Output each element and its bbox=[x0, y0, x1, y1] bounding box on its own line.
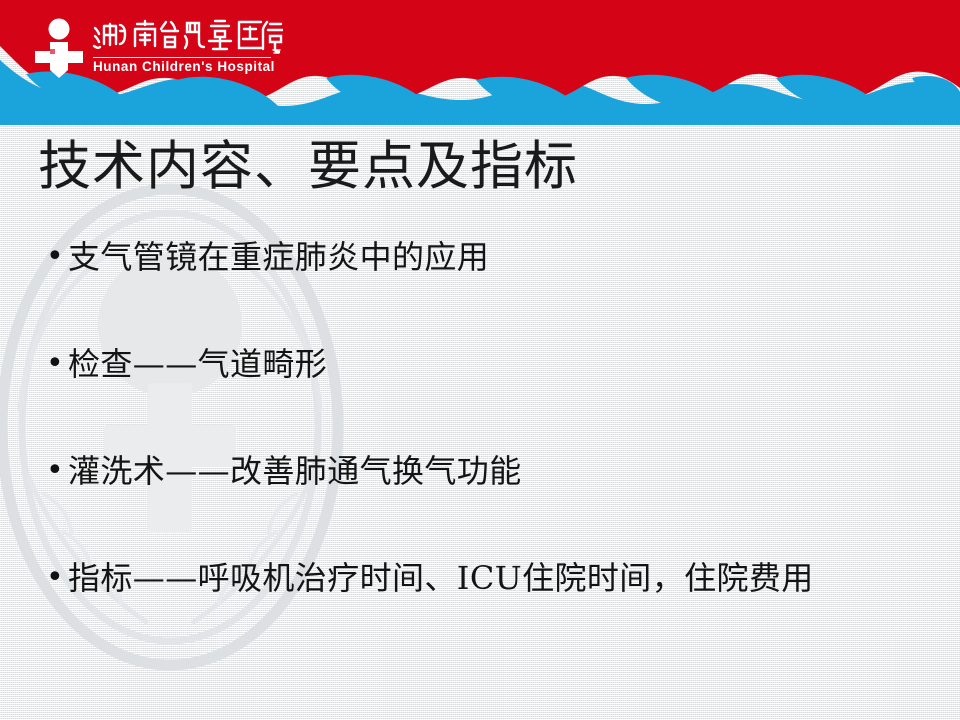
list-item-text: 指标——呼吸机治疗时间、ICU住院时间，住院费用 bbox=[68, 559, 814, 597]
hospital-logo: Hunan Children's Hospital bbox=[33, 16, 283, 84]
hospital-name-chinese-calligraphy bbox=[91, 18, 283, 56]
bullet-dot-icon: • bbox=[46, 242, 68, 272]
list-item: • 指标——呼吸机治疗时间、ICU住院时间，住院费用 bbox=[46, 559, 946, 666]
list-item-text: 支气管镜在重症肺炎中的应用 bbox=[68, 238, 489, 276]
bullet-dot-icon: • bbox=[46, 456, 68, 486]
list-item-text: 灌洗术——改善肺通气换气功能 bbox=[68, 452, 522, 490]
child-cross-icon bbox=[33, 18, 85, 78]
list-item: • 检查——气道畸形 bbox=[46, 345, 946, 452]
list-item: • 支气管镜在重症肺炎中的应用 bbox=[46, 238, 946, 345]
list-item: • 灌洗术——改善肺通气换气功能 bbox=[46, 452, 946, 559]
bullet-dot-icon: • bbox=[46, 563, 68, 593]
slide-title: 技术内容、要点及指标 bbox=[38, 134, 578, 200]
hospital-name-english: Hunan Children's Hospital bbox=[93, 59, 283, 75]
bullet-list: • 支气管镜在重症肺炎中的应用 • 检查——气道畸形 • 灌洗术——改善肺通气换… bbox=[46, 238, 946, 666]
list-item-text: 检查——气道畸形 bbox=[68, 345, 327, 383]
logo-divider-rule bbox=[93, 57, 271, 58]
slide-canvas: Hunan Children's Hospital 技术内容、要点及指标 • 支… bbox=[0, 0, 960, 720]
bullet-dot-icon: • bbox=[46, 349, 68, 379]
